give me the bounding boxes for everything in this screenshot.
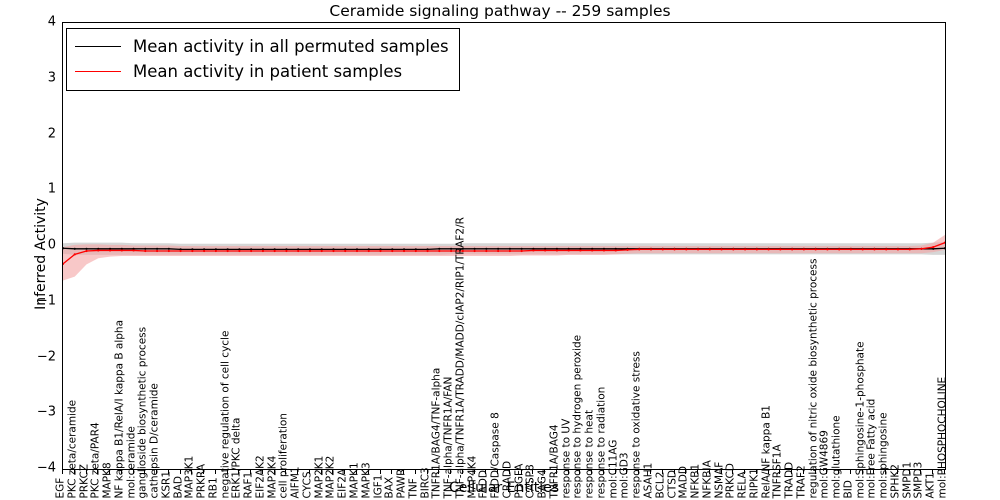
x-axis-tick-mark bbox=[380, 470, 381, 474]
series-point bbox=[626, 249, 628, 251]
series-point bbox=[920, 248, 922, 250]
series-point bbox=[474, 248, 476, 250]
series-point bbox=[826, 248, 828, 250]
series-point bbox=[509, 250, 511, 252]
y-axis-tick-label: 1 bbox=[0, 182, 56, 197]
x-axis-tick-mark bbox=[391, 470, 392, 474]
series-point bbox=[779, 248, 781, 250]
series-point bbox=[485, 250, 487, 252]
series-point bbox=[497, 248, 499, 250]
series-point bbox=[521, 248, 523, 250]
series-point bbox=[544, 249, 546, 251]
x-axis-tick-mark bbox=[215, 470, 216, 474]
series-point bbox=[285, 250, 287, 252]
series-point bbox=[168, 250, 170, 252]
series-point bbox=[873, 248, 875, 250]
series-point bbox=[720, 248, 722, 250]
series-point bbox=[274, 250, 276, 252]
series-point bbox=[862, 248, 864, 250]
series-point bbox=[791, 248, 793, 250]
series-point bbox=[356, 250, 358, 252]
series-point bbox=[850, 248, 852, 250]
series-point bbox=[74, 248, 76, 250]
x-axis-tick-label: TNF-alpha/TNFR1A/TRADD/MADD/cIAP2/RIP1/T… bbox=[455, 217, 466, 498]
series-point bbox=[591, 249, 593, 251]
x-axis-tick-mark bbox=[415, 470, 416, 474]
series-point bbox=[673, 248, 675, 250]
series-point bbox=[144, 248, 146, 250]
series-point bbox=[250, 250, 252, 252]
series-point bbox=[109, 249, 111, 251]
legend-item: Mean activity in patient samples bbox=[75, 59, 449, 84]
series-point bbox=[474, 250, 476, 252]
series-point bbox=[521, 250, 523, 252]
series-point bbox=[497, 250, 499, 252]
series-point bbox=[650, 248, 652, 250]
series-point bbox=[262, 250, 264, 252]
series-point bbox=[85, 248, 87, 250]
series-point bbox=[897, 248, 899, 250]
series-point bbox=[144, 250, 146, 252]
series-point bbox=[662, 248, 664, 250]
series-point bbox=[697, 248, 699, 250]
series-point bbox=[368, 250, 370, 252]
series-point bbox=[509, 248, 511, 250]
series-point bbox=[885, 248, 887, 250]
series-point bbox=[180, 250, 182, 252]
series-point bbox=[685, 248, 687, 250]
series-point bbox=[732, 248, 734, 250]
series-point bbox=[344, 250, 346, 252]
legend-label: Mean activity in all permuted samples bbox=[133, 37, 449, 56]
x-axis-tick-mark bbox=[850, 470, 851, 474]
y-axis-tick-label: −3 bbox=[0, 405, 56, 420]
series-point bbox=[603, 249, 605, 251]
series-point bbox=[579, 249, 581, 251]
series-point bbox=[332, 250, 334, 252]
series-point bbox=[438, 250, 440, 252]
y-axis-tick-label: −4 bbox=[0, 461, 56, 476]
series-point bbox=[838, 248, 840, 250]
series-point bbox=[97, 249, 99, 251]
series-point bbox=[709, 248, 711, 250]
series-point bbox=[121, 249, 123, 251]
series-point bbox=[426, 250, 428, 252]
series-point bbox=[815, 248, 817, 250]
series-point bbox=[638, 248, 640, 250]
series-point bbox=[615, 249, 617, 251]
x-axis-tick-label: response to oxidative stress bbox=[632, 351, 643, 498]
y-axis-tick-label: 2 bbox=[0, 126, 56, 141]
series-point bbox=[403, 250, 405, 252]
series-point bbox=[227, 250, 229, 252]
y-axis-tick-label: 4 bbox=[0, 15, 56, 30]
legend-label: Mean activity in patient samples bbox=[133, 62, 402, 81]
legend-line-swatch bbox=[75, 46, 121, 47]
series-point bbox=[556, 249, 558, 251]
y-axis-tick-label: 3 bbox=[0, 70, 56, 85]
series-point bbox=[203, 250, 205, 252]
series-point bbox=[744, 248, 746, 250]
x-axis-label: Cellular Entities bbox=[62, 480, 946, 496]
y-axis-tick-label: −2 bbox=[0, 349, 56, 364]
series-point bbox=[532, 249, 534, 251]
x-axis-tick-label: ganglioside biosynthetic process bbox=[138, 326, 149, 498]
x-axis-tick-label: response to hydrogen peroxide bbox=[573, 334, 584, 498]
series-point bbox=[568, 249, 570, 251]
legend-item: Mean activity in all permuted samples bbox=[75, 34, 449, 59]
series-point bbox=[450, 248, 452, 250]
series-point bbox=[74, 253, 76, 255]
series-point bbox=[485, 248, 487, 250]
series-point bbox=[803, 248, 805, 250]
series-point bbox=[191, 250, 193, 252]
y-axis-tick-label: −1 bbox=[0, 293, 56, 308]
series-point bbox=[415, 250, 417, 252]
series-point bbox=[438, 248, 440, 250]
x-axis-tick-label: mol:Sphingosine-1-phosphate bbox=[855, 341, 866, 498]
series-point bbox=[450, 250, 452, 252]
series-point bbox=[132, 249, 134, 251]
x-axis-tick-label: regulation of nitric oxide biosynthetic … bbox=[808, 258, 819, 498]
series-point bbox=[168, 248, 170, 250]
x-axis-tick-label: TNFR1A/BAG4/TNF-alpha bbox=[432, 367, 443, 498]
series-point bbox=[156, 250, 158, 252]
series-point bbox=[379, 250, 381, 252]
series-point bbox=[321, 250, 323, 252]
series-point bbox=[156, 248, 158, 250]
series-point bbox=[309, 250, 311, 252]
x-axis-tick-mark bbox=[180, 470, 181, 474]
series-point bbox=[391, 250, 393, 252]
y-axis-tick-label: 0 bbox=[0, 238, 56, 253]
series-point bbox=[215, 250, 217, 252]
x-axis-tick-label: NF kappa B1/RelA/I kappa B alpha bbox=[114, 319, 125, 498]
x-axis-tick-label: negative regulation of cell cycle bbox=[220, 330, 231, 498]
chart-title: Ceramide signaling pathway -- 259 sample… bbox=[0, 2, 1000, 20]
series-point bbox=[238, 250, 240, 252]
series-point bbox=[85, 250, 87, 252]
series-point bbox=[932, 246, 934, 248]
chart-figure: Ceramide signaling pathway -- 259 sample… bbox=[0, 0, 1000, 500]
series-point bbox=[297, 250, 299, 252]
x-axis-tick-mark bbox=[62, 470, 63, 474]
series-point bbox=[768, 248, 770, 250]
series-point bbox=[909, 248, 911, 250]
series-point bbox=[756, 248, 758, 250]
chart-legend: Mean activity in all permuted samplesMea… bbox=[66, 28, 460, 91]
legend-line-swatch bbox=[75, 71, 121, 72]
